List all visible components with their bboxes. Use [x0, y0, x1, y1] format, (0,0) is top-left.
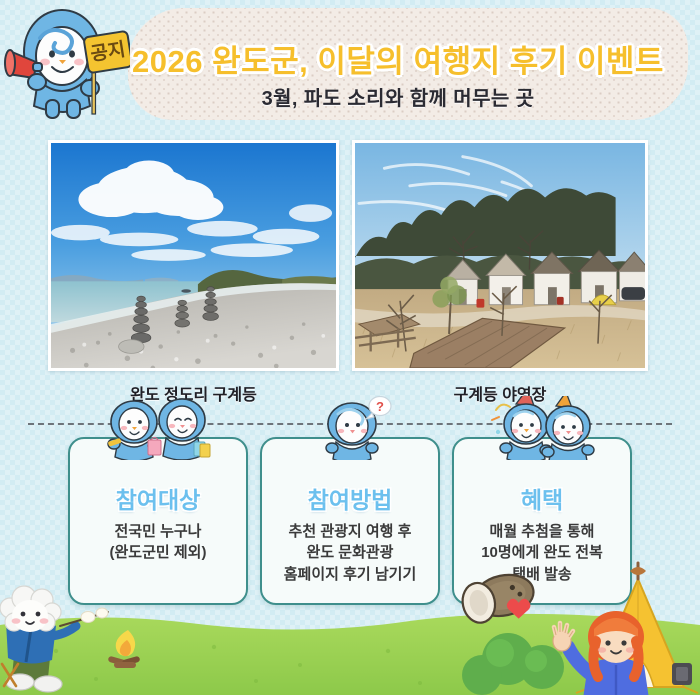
grass-ground: [0, 607, 700, 695]
card-body-how-to-join: 추천 관광지 여행 후 완도 문화관광 홈페이지 후기 남기기: [268, 521, 432, 585]
card-line: 홈페이지 후기 남기기: [268, 564, 432, 585]
card-body-benefit: 매월 추첨을 통해 10명에게 완도 전복 택배 발송: [460, 521, 624, 585]
event-poster: 공지 2026 완도군, 이달의 여행지 후기 이벤트 3월, 파도 소리와 함…: [0, 0, 700, 695]
photo-caption-campsite: 구계등 야영장: [352, 381, 648, 405]
card-line: 추천 관광지 여행 후: [268, 521, 432, 542]
info-card-how-to-join: ? 참여방법 추천 관광지 여행 후 완도 문화관광 홈페이지 후기 남기기: [260, 437, 440, 605]
page-subtitle: 3월, 파도 소리와 함께 머무는 곳: [118, 82, 678, 111]
card-line: 10명에게 완도 전복: [460, 542, 624, 563]
section-divider: [28, 423, 672, 425]
page-title: 2026 완도군, 이달의 여행지 후기 이벤트: [118, 36, 678, 81]
card-line: 매월 추첨을 통해: [460, 521, 624, 542]
photo-gugyedeung-campsite: [352, 140, 648, 371]
card-line: (완도군민 제외): [76, 542, 240, 563]
photo-caption-beach: 완도 정도리 구계등: [48, 381, 339, 405]
card-line: 전국민 누구나: [76, 521, 240, 542]
two-mascots-party-icon: [486, 396, 598, 465]
photo-gugyedeung-beach: [48, 140, 339, 371]
card-heading-benefit: 혜택: [454, 481, 630, 515]
card-body-participants: 전국민 누구나 (완도군민 제외): [76, 521, 240, 564]
two-mascots-shopping-icon: [104, 396, 212, 465]
card-line: 완도 문화관광: [268, 542, 432, 563]
card-heading-participants: 참여대상: [70, 481, 246, 515]
mascot-question-icon: ?: [302, 396, 398, 465]
card-line: 택배 발송: [460, 564, 624, 585]
info-card-participants: 참여대상 전국민 누구나 (완도군민 제외): [68, 437, 248, 605]
info-card-benefit: 혜택 매월 추첨을 통해 10명에게 완도 전복 택배 발송: [452, 437, 632, 605]
wando-mascot-announcer-icon: 공지: [4, 4, 130, 126]
card-heading-how-to-join: 참여방법: [262, 481, 438, 515]
